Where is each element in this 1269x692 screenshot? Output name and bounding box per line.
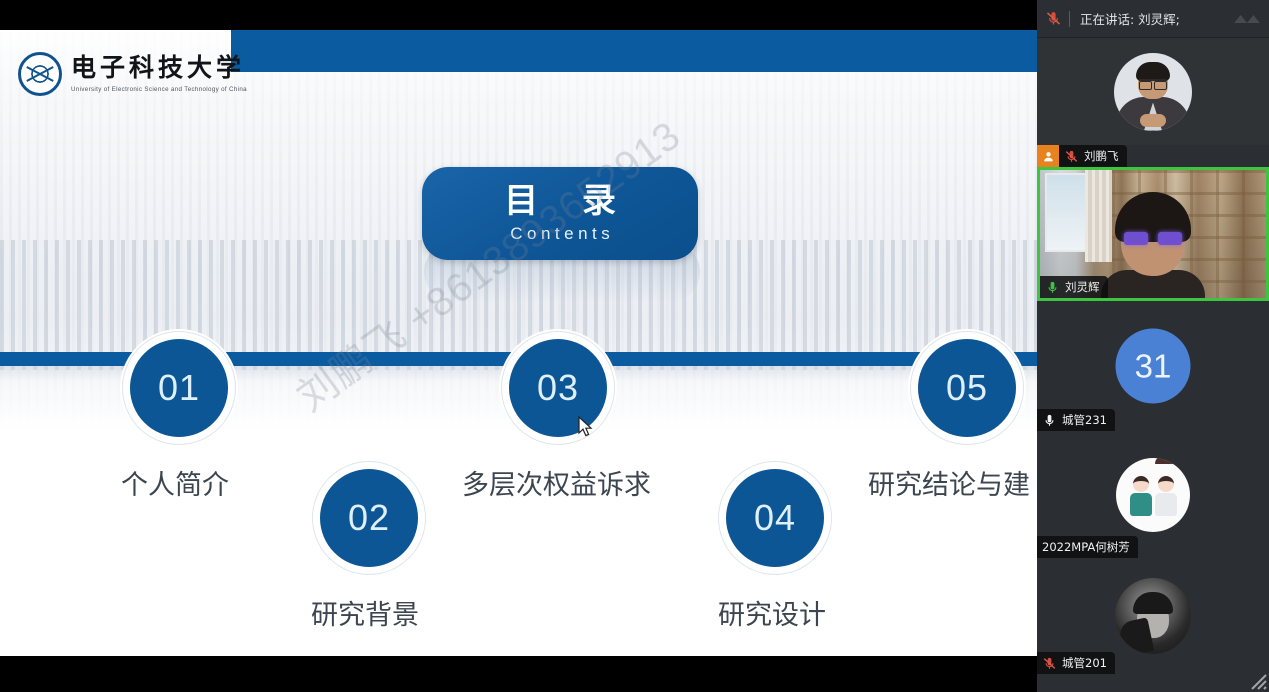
mic-muted-red-icon: [1042, 656, 1057, 671]
video-person: [1099, 192, 1207, 301]
toc-node-03[interactable]: 03: [499, 329, 617, 447]
participant-name: 2022MPA何树芳: [1042, 539, 1130, 555]
contents-title-en: Contents: [506, 224, 615, 244]
slide-header-bar: [231, 30, 1037, 72]
toc-node-01-disc: 01: [130, 339, 228, 437]
toc-node-02[interactable]: 02: [310, 459, 428, 577]
contents-title-cn: 目 录: [488, 183, 632, 220]
toc-node-01[interactable]: 01: [120, 329, 238, 447]
uestc-crest-icon: [18, 52, 62, 96]
meeting-window: 电子科技大学 University of Electronic Science …: [0, 0, 1269, 692]
avatar-hair: [1133, 592, 1173, 614]
avatar-hands: [1140, 114, 1166, 127]
avatar-initials: 31: [1116, 329, 1191, 404]
crest-inner-mark: [26, 66, 53, 82]
participant-name-tag: 2022MPA何树芳: [1037, 536, 1138, 558]
presentation-slide[interactable]: 电子科技大学 University of Electronic Science …: [0, 30, 1037, 656]
participant-tile[interactable]: [1037, 38, 1269, 145]
avatar-cartoon: [1116, 458, 1190, 532]
host-person-icon: [1042, 150, 1055, 163]
mouse-pointer-icon: [578, 416, 594, 438]
toc-label-03: 多层次权益诉求: [462, 463, 651, 502]
participant-name: 城管201: [1062, 655, 1107, 671]
host-badge: [1037, 145, 1059, 167]
toc-node-05-disc: 05: [918, 339, 1016, 437]
toc-label-01: 个人简介: [121, 463, 229, 502]
mic-white-icon: [1042, 413, 1057, 428]
toc-node-02-disc: 02: [320, 469, 418, 567]
toc-node-04-number: 04: [754, 497, 796, 539]
contents-title-pill: 目 录 Contents: [422, 167, 698, 260]
participant-tile[interactable]: 城管201: [1037, 558, 1269, 674]
university-name-cn: 电子科技大学: [71, 55, 247, 81]
toc-label-04: 研究设计: [718, 593, 826, 632]
shared-screen-area[interactable]: 电子科技大学 University of Electronic Science …: [0, 0, 1037, 692]
toc-node-05[interactable]: 05: [908, 329, 1026, 447]
toc-node-05-number: 05: [946, 367, 988, 409]
toc-node-02-number: 02: [348, 497, 390, 539]
participant-name-tag: 刘灵辉: [1040, 276, 1108, 298]
avatar-initials-text: 31: [1135, 347, 1172, 385]
speaking-divider: [1069, 11, 1070, 27]
toc-node-04-disc: 04: [726, 469, 824, 567]
toc-node-01-number: 01: [158, 367, 200, 409]
participant-tile[interactable]: 刘鹏飞: [1037, 145, 1269, 167]
toc-node-04[interactable]: 04: [716, 459, 834, 577]
cartoon-figure-left: [1130, 476, 1152, 516]
now-speaking-bar: 正在讲话: 刘灵辉;: [1037, 0, 1269, 38]
participant-name-tag: 刘鹏飞: [1059, 145, 1127, 167]
avatar-photo: [1115, 578, 1191, 654]
toc-node-03-number: 03: [537, 367, 579, 409]
mic-muted-red-icon: [1064, 149, 1079, 164]
participant-name: 刘鹏飞: [1084, 148, 1119, 164]
mic-muted-red-icon: [1045, 10, 1062, 27]
toc-label-02: 研究背景: [311, 593, 419, 632]
participant-tile[interactable]: 2022MPA何树芳: [1037, 431, 1269, 558]
participant-filmstrip[interactable]: 正在讲话: 刘灵辉;: [1037, 0, 1269, 692]
university-logo: 电子科技大学 University of Electronic Science …: [18, 52, 247, 96]
participant-name: 刘灵辉: [1065, 279, 1100, 295]
cartoon-figure-right: [1155, 476, 1177, 516]
participant-tile[interactable]: 31 城管231: [1037, 301, 1269, 431]
letterbox-top: [0, 0, 1037, 30]
avatar-glasses: [1139, 79, 1167, 86]
now-speaking-label: 正在讲话: 刘灵辉;: [1080, 9, 1180, 28]
participant-name-tag: 城管201: [1037, 652, 1115, 674]
mic-active-green-icon: [1045, 280, 1060, 295]
resize-grip-icon[interactable]: [1245, 668, 1267, 690]
toc-label-05: 研究结论与建: [868, 463, 1030, 502]
participant-name: 城管231: [1062, 412, 1107, 428]
cartoon-figure-right-hair: [1155, 458, 1177, 464]
participant-name-tag: 城管231: [1037, 409, 1115, 431]
university-name-en: University of Electronic Science and Tec…: [71, 86, 247, 93]
participant-tile[interactable]: 刘灵辉: [1037, 167, 1269, 301]
university-name-block: 电子科技大学 University of Electronic Science …: [71, 55, 247, 92]
letterbox-bottom: [0, 656, 1037, 692]
person-glasses: [1124, 232, 1182, 245]
collapse-chevron-icon[interactable]: [1231, 9, 1263, 29]
avatar: [1114, 53, 1192, 131]
